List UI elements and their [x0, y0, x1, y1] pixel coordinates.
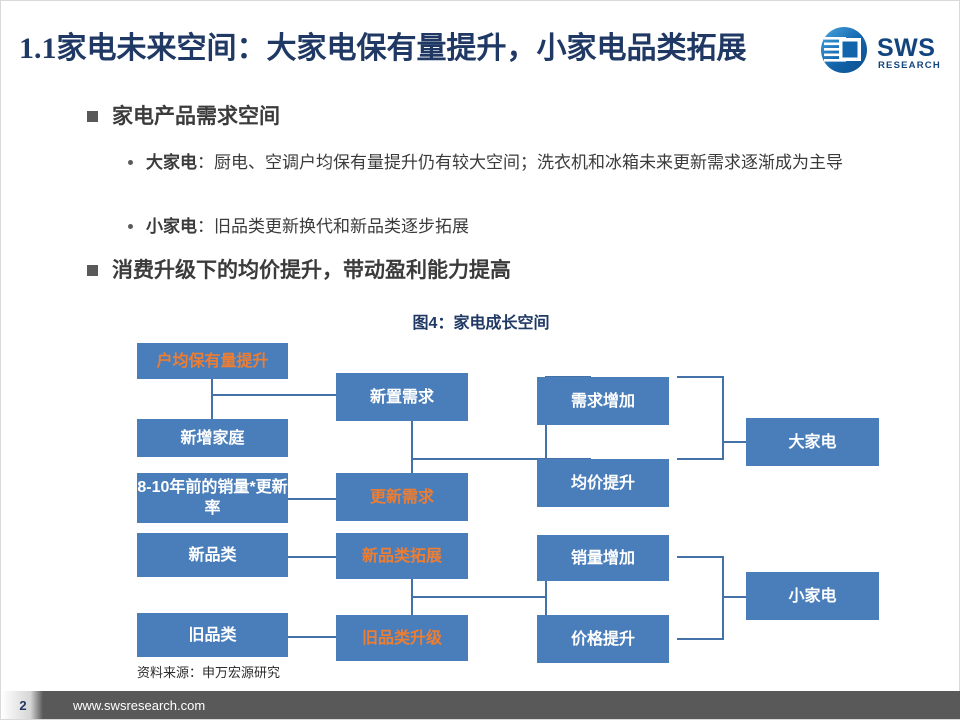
connector-line — [288, 556, 336, 558]
node-demand-increase[interactable]: 需求增加 — [537, 377, 669, 425]
node-old-category-upgrade[interactable]: 旧品类升级 — [336, 615, 468, 661]
connector-line — [722, 376, 724, 460]
connector-line — [288, 498, 336, 500]
square-bullet-icon — [87, 111, 98, 122]
logo-sub-text: RESEARCH — [878, 60, 941, 71]
footer-url[interactable]: www.swsresearch.com — [73, 691, 205, 719]
connector-line — [411, 458, 546, 460]
page-number: 2 — [9, 691, 37, 719]
node-new-purchase-demand[interactable]: 新置需求 — [336, 373, 468, 421]
bullet-small-appliances: 小家电：旧品类更新换代和新品类逐步拓展 — [128, 213, 868, 240]
connector-line — [411, 579, 413, 597]
logo-brand-text: SWS — [877, 34, 935, 62]
large-appliance-text: ：厨电、空调户均保有量提升仍有较大空间；洗衣机和冰箱未来更新需求逐渐成为主导 — [197, 153, 843, 172]
node-sales-volume-increase[interactable]: 销量增加 — [537, 535, 669, 581]
connector-line — [677, 638, 723, 640]
node-sales-8-10-years-ago[interactable]: 8-10年前的销量*更新率 — [137, 473, 288, 523]
dot-bullet-icon — [128, 224, 133, 229]
node-household-ownership-increase[interactable]: 户均保有量提升 — [137, 343, 288, 379]
connector-line — [677, 376, 723, 378]
connector-line — [411, 597, 413, 617]
small-appliance-label: 小家电 — [146, 217, 197, 236]
figure-source: 资料来源：申万宏源研究 — [137, 662, 280, 681]
large-appliance-label: 大家电 — [146, 153, 197, 172]
dot-bullet-icon — [128, 160, 133, 165]
node-new-categories[interactable]: 新品类 — [137, 533, 288, 577]
figure-title: 图4：家电成长空间 — [1, 309, 960, 333]
node-replacement-demand[interactable]: 更新需求 — [336, 473, 468, 521]
connector-line — [288, 636, 336, 638]
connector-line — [677, 556, 723, 558]
connector-line — [211, 394, 336, 396]
node-new-category-expansion[interactable]: 新品类拓展 — [336, 533, 468, 579]
node-small-appliances[interactable]: 小家电 — [746, 572, 879, 620]
sws-logo: SWS RESEARCH — [819, 25, 947, 77]
node-large-appliances[interactable]: 大家电 — [746, 418, 879, 466]
bullet-section-1: 家电产品需求空间 — [87, 102, 847, 132]
section-2-heading: 消费升级下的均价提升，带动盈利能力提高 — [112, 256, 511, 286]
square-bullet-icon — [87, 265, 98, 276]
title-bar: 1.1家电未来空间：大家电保有量提升，小家电品类拓展 — [1, 23, 960, 79]
connector-line — [677, 458, 723, 460]
node-average-price-increase[interactable]: 均价提升 — [537, 459, 669, 507]
connector-line — [411, 596, 546, 598]
section-1-heading: 家电产品需求空间 — [112, 102, 280, 132]
node-price-increase[interactable]: 价格提升 — [537, 615, 669, 663]
slide: 1.1家电未来空间：大家电保有量提升，小家电品类拓展 — [0, 0, 960, 720]
node-new-households[interactable]: 新增家庭 — [137, 419, 288, 457]
connector-line — [722, 556, 724, 640]
flow-diagram: 户均保有量提升 新增家庭 8-10年前的销量*更新率 新置需求 更新需求 需求增… — [1, 331, 960, 691]
node-old-categories[interactable]: 旧品类 — [137, 613, 288, 657]
connector-line — [411, 421, 413, 459]
footer-bar: 2 www.swsresearch.com — [1, 691, 960, 719]
bullet-large-appliances: 大家电：厨电、空调户均保有量提升仍有较大空间；洗衣机和冰箱未来更新需求逐渐成为主… — [128, 149, 868, 176]
small-appliance-text: ：旧品类更新换代和新品类逐步拓展 — [197, 217, 469, 236]
bullet-section-2: 消费升级下的均价提升，带动盈利能力提高 — [87, 256, 847, 286]
connector-line — [211, 394, 213, 420]
page-title: 1.1家电未来空间：大家电保有量提升，小家电品类拓展 — [19, 23, 829, 75]
